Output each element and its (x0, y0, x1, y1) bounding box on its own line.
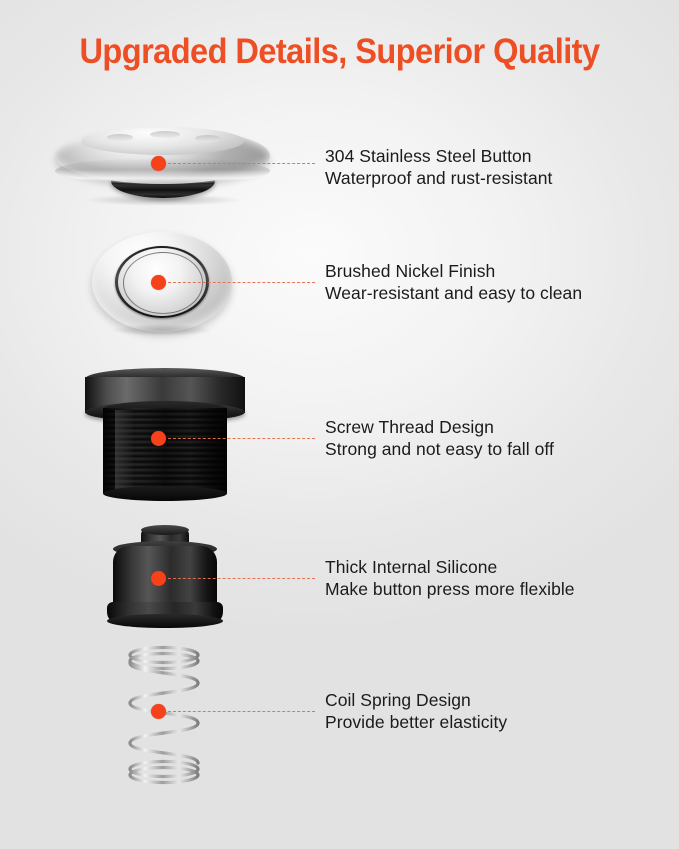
infographic-canvas: Upgraded Details, Superior Quality (0, 0, 679, 849)
callout-subline: Wear-resistant and easy to clean (325, 283, 582, 305)
leader-line-4 (163, 578, 315, 579)
callout-stainless-steel-button: 304 Stainless Steel Button Waterproof an… (325, 146, 552, 189)
leader-line-1 (163, 163, 315, 164)
barrel-gloss-highlight (115, 410, 135, 494)
leader-line-5 (163, 711, 315, 712)
anchor-dot-2 (151, 275, 166, 290)
leader-line-2 (163, 282, 315, 283)
callout-headline: 304 Stainless Steel Button (325, 146, 552, 168)
cap-dimple (107, 134, 133, 141)
cap-dimple (195, 135, 221, 142)
callout-screw-thread-design: Screw Thread Design Strong and not easy … (325, 417, 554, 460)
callout-subline: Strong and not easy to fall off (325, 439, 554, 461)
silicone-base (107, 614, 223, 628)
cap-dimple (150, 131, 180, 138)
nickel-drop-shadow (110, 324, 214, 336)
callout-thick-internal-silicone: Thick Internal Silicone Make button pres… (325, 557, 575, 600)
barrel-bottom-edge (103, 486, 227, 501)
callout-headline: Coil Spring Design (325, 690, 507, 712)
callout-brushed-nickel-finish: Brushed Nickel Finish Wear-resistant and… (325, 261, 582, 304)
callout-headline: Screw Thread Design (325, 417, 554, 439)
silicone-nipple-top (141, 525, 189, 535)
callout-coil-spring-design: Coil Spring Design Provide better elasti… (325, 690, 507, 733)
callout-headline: Brushed Nickel Finish (325, 261, 582, 283)
anchor-dot-1 (151, 156, 166, 171)
callout-subline: Make button press more flexible (325, 579, 575, 601)
cap-drop-shadow (83, 194, 243, 206)
anchor-dot-4 (151, 571, 166, 586)
anchor-dot-3 (151, 431, 166, 446)
page-title: Upgraded Details, Superior Quality (24, 32, 655, 72)
callout-headline: Thick Internal Silicone (325, 557, 575, 579)
leader-line-3 (163, 438, 315, 439)
callout-subline: Waterproof and rust-resistant (325, 168, 552, 190)
callout-subline: Provide better elasticity (325, 712, 507, 734)
anchor-dot-5 (151, 704, 166, 719)
